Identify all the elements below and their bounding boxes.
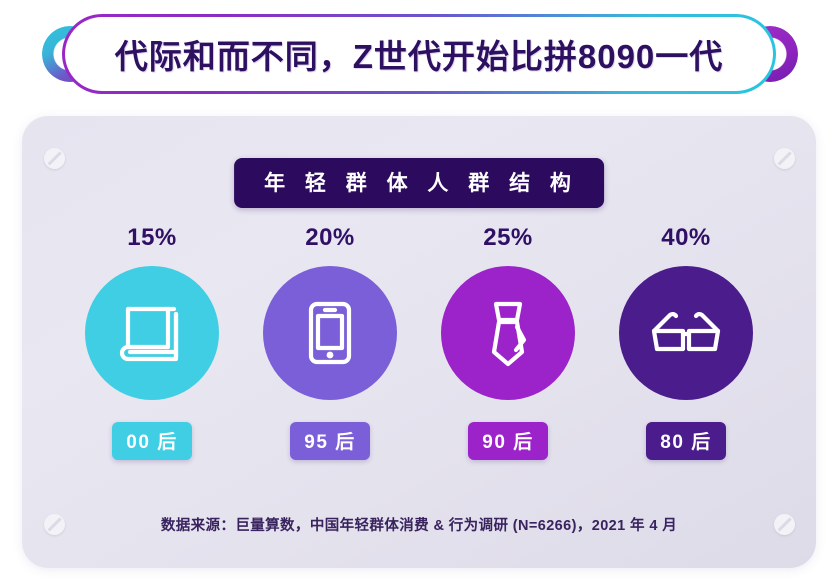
stat-group-90: 25% 90 后 [424, 224, 592, 460]
book-icon [114, 295, 190, 371]
source-footer: 数据来源：巨量算数，中国年轻群体消费 & 行为调研 (N=6266)，2021 … [22, 514, 816, 535]
generation-badge: 80 后 [646, 422, 725, 460]
generation-badge: 00 后 [112, 422, 191, 460]
screw-slot-icon [44, 148, 65, 169]
smartphone-icon [292, 295, 368, 371]
stat-percent: 15% [127, 224, 177, 252]
generation-badge: 90 后 [468, 422, 547, 460]
eyeglasses-icon [646, 293, 726, 373]
section-badge-label: 年 轻 群 体 人 群 结 构 [264, 172, 578, 195]
stat-circle [263, 266, 397, 400]
stat-group-00: 15% 00 后 [68, 224, 236, 460]
source-text: 数据来源：巨量算数，中国年轻群体消费 & 行为调研 (N=6266)，2021 … [161, 514, 677, 535]
stat-circle [619, 266, 753, 400]
stat-percent: 20% [305, 224, 355, 252]
section-badge: 年 轻 群 体 人 群 结 构 [234, 158, 604, 208]
stat-group-80: 40% 80 后 [602, 224, 770, 460]
title-pill: 代际和而不同，Z世代开始比拼8090一代 [62, 14, 776, 94]
stat-circle [441, 266, 575, 400]
generation-badge: 95 后 [290, 422, 369, 460]
stat-circle [85, 266, 219, 400]
title-pill-inner: 代际和而不同，Z世代开始比拼8090一代 [65, 17, 773, 91]
page-title: 代际和而不同，Z世代开始比拼8090一代 [115, 30, 724, 78]
infographic-card: 年 轻 群 体 人 群 结 构 15% 00 后 [22, 116, 816, 568]
stat-group-95: 20% 95 后 [246, 224, 414, 460]
title-banner: 代际和而不同，Z世代开始比拼8090一代 [0, 0, 838, 108]
stat-percent: 25% [483, 224, 533, 252]
screw-slot-icon [774, 148, 795, 169]
necktie-icon [470, 295, 546, 371]
stat-percent: 40% [661, 224, 711, 252]
stat-columns: 15% 00 后 20% [68, 224, 770, 460]
